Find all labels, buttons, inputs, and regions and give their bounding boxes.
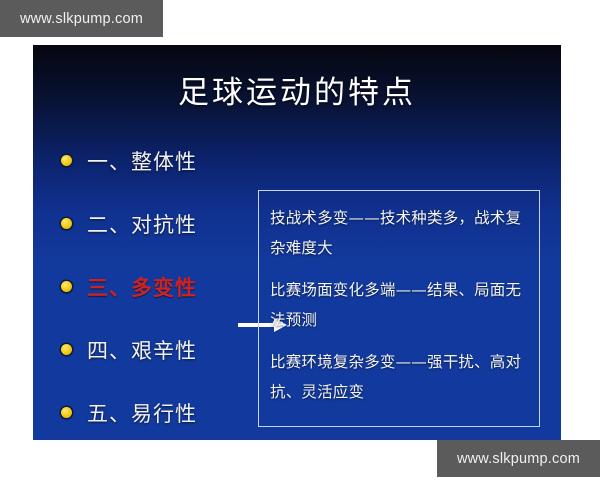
detail-callout-box: 技战术多变——技术种类多，战术复杂难度大 比赛场面变化多端——结果、局面无法预测… (258, 190, 540, 427)
list-item[interactable]: 五、易行性 (61, 381, 261, 440)
bullet-dot-icon (61, 407, 72, 418)
list-item[interactable]: 四、艰辛性 (61, 318, 261, 381)
callout-paragraph: 比赛场面变化多端——结果、局面无法预测 (270, 275, 528, 335)
list-item-label: 三、多变性 (87, 272, 197, 302)
bullet-dot-icon (61, 344, 72, 355)
watermark-bottom-right: www.slkpump.com (437, 440, 600, 477)
presentation-slide: 足球运动的特点 一、整体性 二、对抗性 三、多变性 四、艰辛性 五、易行性 技战… (33, 45, 561, 440)
list-item-label: 四、艰辛性 (87, 335, 197, 365)
list-item-label: 一、整体性 (87, 146, 197, 176)
bullet-list: 一、整体性 二、对抗性 三、多变性 四、艰辛性 五、易行性 (61, 129, 261, 440)
list-item[interactable]: 二、对抗性 (61, 192, 261, 255)
bullet-dot-icon (61, 218, 72, 229)
list-item-highlighted[interactable]: 三、多变性 (61, 255, 261, 318)
bullet-dot-icon (61, 281, 72, 292)
watermark-top-left: www.slkpump.com (0, 0, 163, 37)
callout-paragraph: 技战术多变——技术种类多，战术复杂难度大 (270, 203, 528, 263)
list-item-label: 二、对抗性 (87, 209, 197, 239)
list-item-label: 五、易行性 (87, 398, 197, 428)
bullet-dot-icon (61, 155, 72, 166)
callout-paragraph: 比赛环境复杂多变——强干扰、高对抗、灵活应变 (270, 347, 528, 407)
list-item[interactable]: 一、整体性 (61, 129, 261, 192)
slide-title: 足球运动的特点 (33, 67, 561, 112)
